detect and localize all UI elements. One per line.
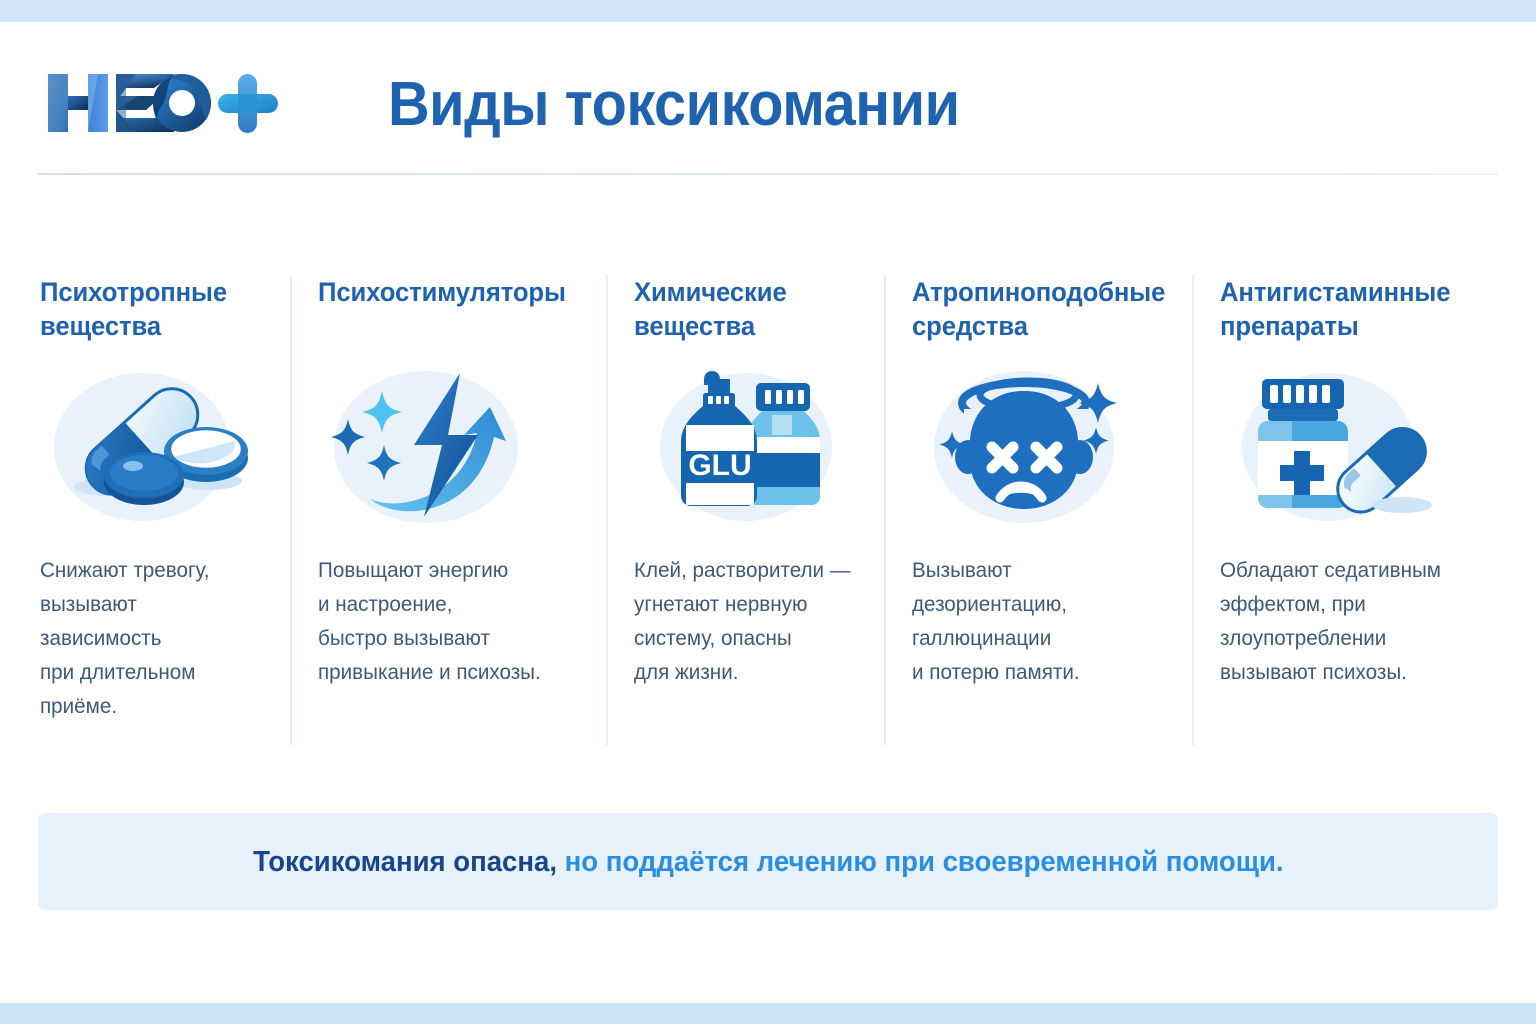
- category-heading: Химические вещества: [634, 275, 853, 343]
- category-chemical-substances: Химические вещества: [606, 275, 884, 745]
- neo-plus-logo: [46, 68, 281, 138]
- pills-capsule-tablets-icon: [40, 365, 268, 531]
- category-heading: Психотропные вещества: [40, 275, 257, 343]
- footer-message-rest: но поддаётся лечению при своевременной п…: [557, 846, 1284, 878]
- category-heading: Психостимуляторы: [318, 275, 573, 343]
- top-accent-band: [0, 0, 1536, 22]
- footer-message: Токсикомания опасна, но поддаётся лечени…: [253, 844, 1283, 880]
- infographic-page: Виды токсикомании Психотропные вещества: [0, 0, 1536, 1024]
- category-antihistamines: Антигистаминные препараты: [1192, 275, 1536, 745]
- category-atropine-like: Атропиноподобные средства: [884, 275, 1192, 745]
- category-heading: Антигистаминные препараты: [1220, 275, 1497, 343]
- page-title: Виды токсикомании: [388, 68, 960, 142]
- glue-bottle-solvent-icon: GLU: [634, 365, 864, 531]
- dizzy-face-icon: [912, 365, 1172, 531]
- category-psychotropic: Психотропные вещества: [0, 275, 290, 745]
- header-divider: [38, 173, 1498, 175]
- pill-bottle-capsule-icon: [1220, 365, 1512, 531]
- page-header: Виды токсикомании: [0, 22, 1536, 195]
- categories-row: Психотропные вещества: [0, 275, 1536, 745]
- category-description: Клей, растворители — угнетают нервную си…: [634, 553, 855, 689]
- category-description: Вызывают дезориентацию, галлюцинации и п…: [912, 553, 1162, 689]
- bottom-accent-band: [0, 1003, 1536, 1024]
- category-description: Обладают седативным эффектом, при злоупо…: [1220, 553, 1500, 689]
- footer-banner: Токсикомания опасна, но поддаётся лечени…: [38, 813, 1498, 910]
- glue-label: GLU: [688, 449, 751, 482]
- category-description: Снижают тревогу, вызывают зависимость пр…: [40, 553, 259, 723]
- category-description: Повыщают энергию и настроение, быстро вы…: [318, 553, 575, 689]
- category-heading: Атропиноподобные средства: [912, 275, 1159, 343]
- category-psychostimulants: Психостимуляторы: [290, 275, 606, 745]
- lightning-bolt-sparkles-arrow-icon: [318, 365, 586, 531]
- footer-message-strong: Токсикомания опасна,: [253, 846, 557, 878]
